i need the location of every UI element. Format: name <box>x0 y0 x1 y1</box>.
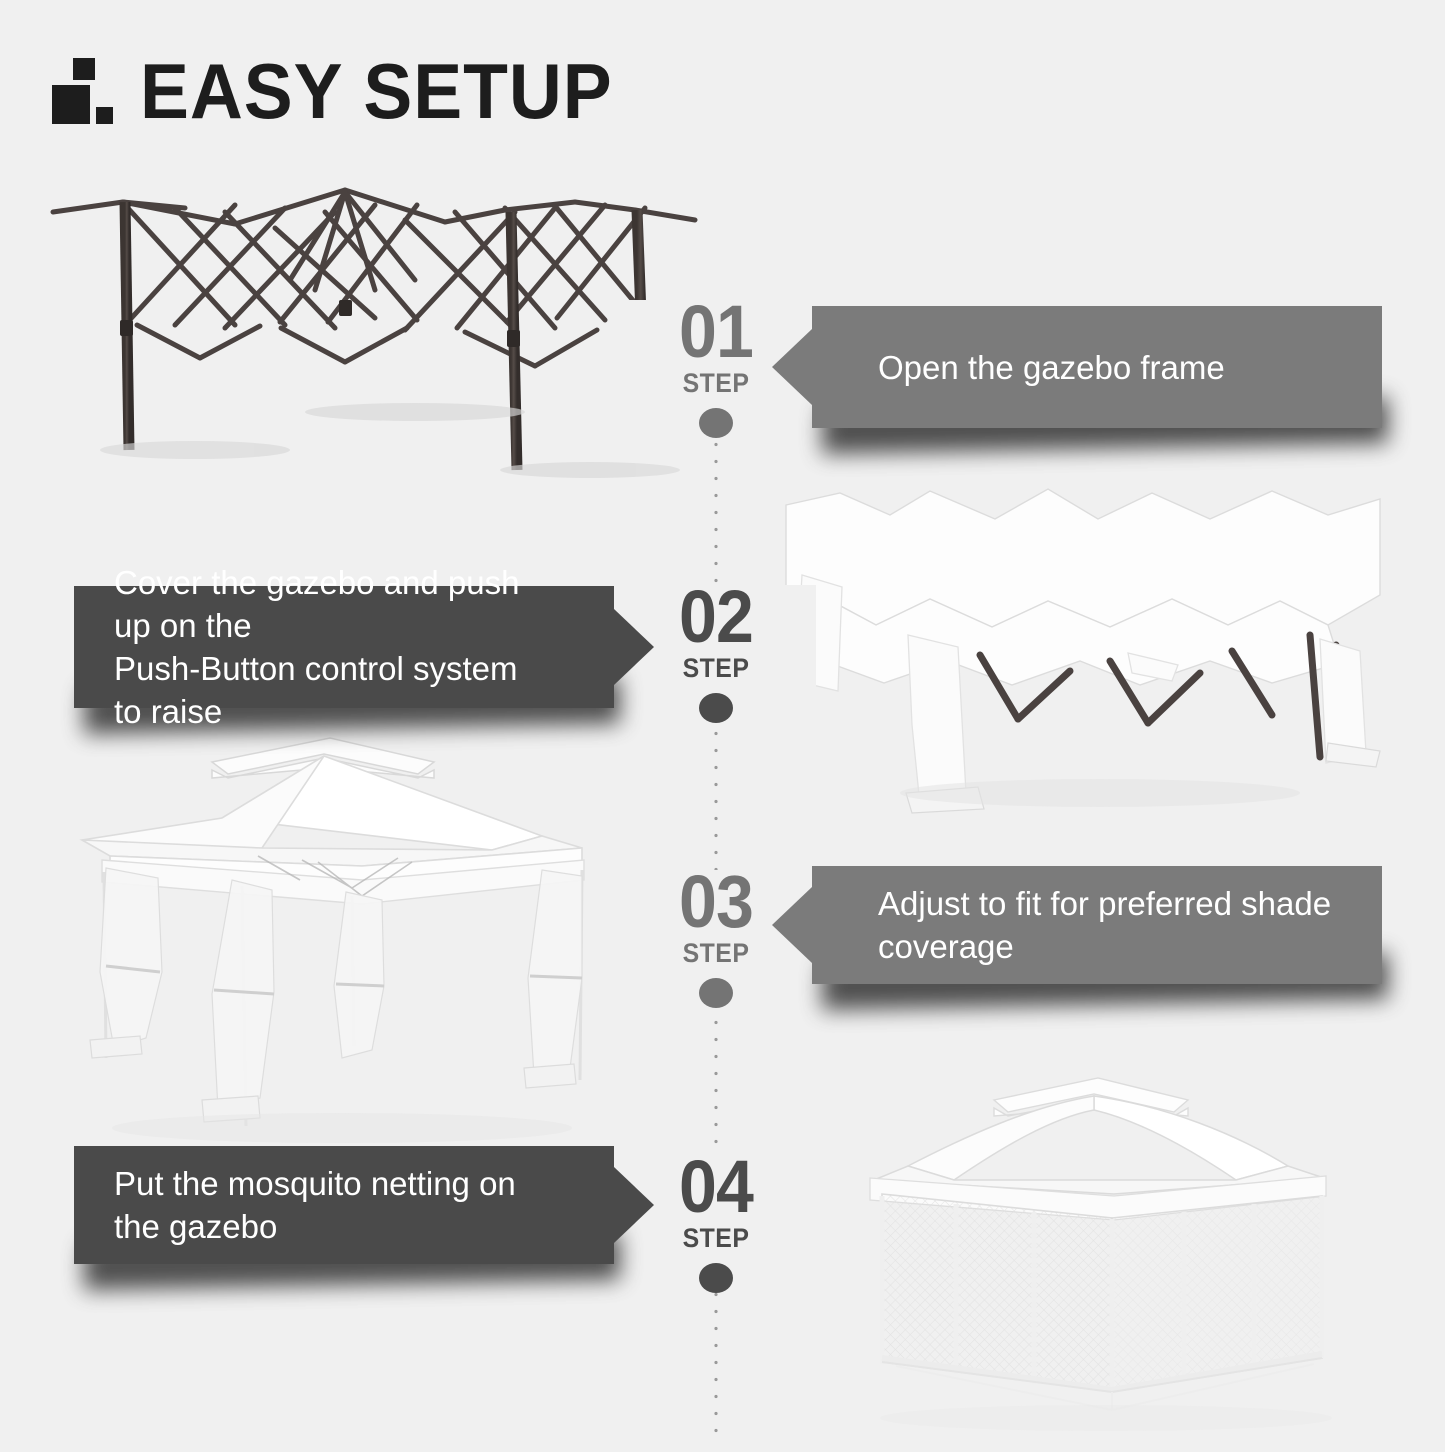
callout-arrow-icon-04 <box>614 1167 654 1243</box>
infographic-canvas: EASY SETUP <box>0 0 1445 1445</box>
callout-arrow-icon-01 <box>772 329 812 405</box>
callout-step-01: Open the gazebo frame <box>812 306 1382 428</box>
callout-box-01: Open the gazebo frame <box>812 306 1382 428</box>
callout-arrow-icon-02 <box>614 609 654 685</box>
timeline-dot-icon-04 <box>699 1263 733 1293</box>
callout-step-03: Adjust to fit for preferred shade covera… <box>812 866 1382 984</box>
timeline-dot-icon-03 <box>699 978 733 1008</box>
photo-gazebo-raised-with-curtains <box>62 728 642 1158</box>
page-header: EASY SETUP <box>52 52 643 130</box>
callout-text-02: Cover the gazebo and push up on the Push… <box>114 561 554 733</box>
callout-text-03: Adjust to fit for preferred shade covera… <box>878 882 1342 968</box>
callout-text-04: Put the mosquito netting on the gazebo <box>114 1162 554 1248</box>
callout-text-01: Open the gazebo frame <box>878 346 1225 389</box>
photo-gazebo-frame-open <box>45 150 705 480</box>
steps-timeline: 01 STEP 02 STEP 03 STEP 04 STEP <box>714 300 718 1445</box>
photo-gazebo-canopy-draped <box>780 475 1390 815</box>
callout-box-03: Adjust to fit for preferred shade covera… <box>812 866 1382 984</box>
callout-step-02: Cover the gazebo and push up on the Push… <box>74 586 614 708</box>
callout-box-04: Put the mosquito netting on the gazebo <box>74 1146 614 1264</box>
timeline-dot-icon-02 <box>699 693 733 723</box>
page-title: EASY SETUP <box>140 52 613 130</box>
callout-box-02: Cover the gazebo and push up on the Push… <box>74 586 614 708</box>
timeline-dot-icon-01 <box>699 408 733 438</box>
callout-arrow-icon-03 <box>772 887 812 963</box>
callout-step-04: Put the mosquito netting on the gazebo <box>74 1146 614 1264</box>
photo-gazebo-with-mosquito-netting <box>836 1062 1396 1452</box>
squares-logo-icon <box>52 58 114 124</box>
